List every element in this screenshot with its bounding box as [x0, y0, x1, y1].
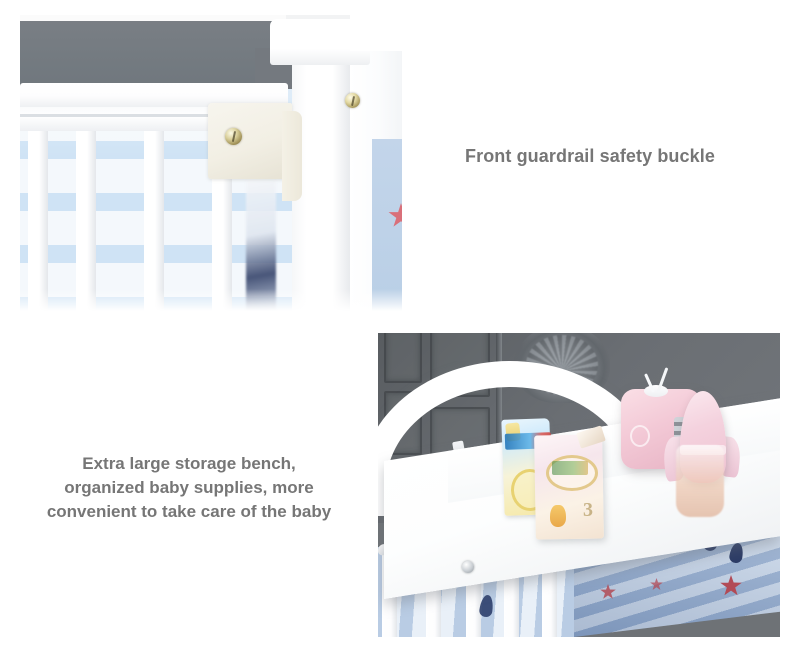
safety-buckle-latch [282, 111, 302, 201]
crib-slat [144, 125, 164, 315]
humidifier-dial-knob [630, 425, 650, 447]
crib-guardrail-buckle-photo [20, 15, 402, 315]
safety-buckle-bracket [208, 103, 292, 179]
package-pink-mascot [550, 505, 566, 527]
bench-mounting-knob [462, 561, 474, 573]
crib-slat [28, 125, 48, 315]
storage-bench-caption: Extra large storage bench, organized bab… [33, 452, 345, 524]
caption-line-1: Extra large storage bench, [33, 452, 345, 476]
caption-line-3: convenient to take care of the baby [33, 500, 345, 524]
product-detail-page: Front guardrail safety buckle [0, 0, 790, 670]
buckle-screw-icon [225, 128, 242, 145]
photo-bottom-fade [20, 289, 402, 315]
package-pink-stage-number: 3 [583, 499, 597, 521]
wall-panel-moulding [384, 333, 422, 383]
glass-baby-bottle [676, 445, 724, 517]
post-screw-icon [345, 93, 360, 108]
caption-line-2: organized baby supplies, more [33, 476, 345, 500]
crib-upper-panel [350, 15, 402, 51]
ceiling-sliver [20, 15, 286, 21]
guardrail-caption: Front guardrail safety buckle [465, 146, 765, 167]
crib-slat [76, 125, 96, 315]
package-pink-label-text [552, 461, 588, 475]
storage-bench-photo: 3 [378, 333, 780, 637]
